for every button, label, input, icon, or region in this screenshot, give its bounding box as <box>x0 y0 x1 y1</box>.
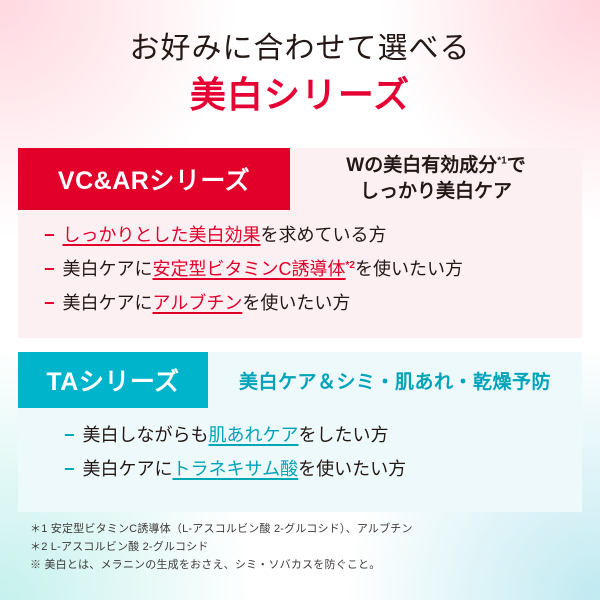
list-item: − 美白ケアに安定型ビタミンC誘導体*2を使いたい方 <box>44 256 564 284</box>
bullet-pre: 美白ケアに <box>83 459 173 479</box>
list-item: − 美白しながらも肌あれケアをしたい方 <box>64 422 564 450</box>
bullet-highlight: 安定型ビタミンC誘導体 <box>153 259 346 279</box>
bullet-dash: − <box>64 456 75 484</box>
promo-graphic: お好みに合わせて選べる 美白シリーズ VC&ARシリーズ Wの美白有効成分*1で… <box>0 0 600 600</box>
section-vc-ar-bullets: − しっかりとした美白効果を求めている方 − 美白ケアに安定型ビタミンC誘導体*… <box>44 222 564 324</box>
bullet-dash: − <box>64 422 75 450</box>
bullet-highlight: 肌あれケア <box>209 425 299 445</box>
bullet-footnote-marker-2: *2 <box>346 260 355 271</box>
section-ta-bullets: − 美白しながらも肌あれケアをしたい方 − 美白ケアにトラネキサム酸を使いたい方 <box>64 422 564 490</box>
section-vc-ar: VC&ARシリーズ Wの美白有効成分*1で しっかり美白ケア − しっかりとした… <box>18 148 582 338</box>
bullet-post: を求めている方 <box>261 225 387 245</box>
section-ta-header: TAシリーズ 美白ケア＆シミ・肌あれ・乾燥予防 <box>18 352 582 408</box>
section-vc-ar-headline: Wの美白有効成分*1で しっかり美白ケア <box>290 148 582 210</box>
page-title: お好みに合わせて選べる 美白シリーズ <box>0 30 600 118</box>
bullet-pre: 美白しながらも <box>83 425 209 445</box>
section-ta-tag: TAシリーズ <box>18 352 208 408</box>
bullet-post: を使いたい方 <box>355 259 463 279</box>
bullet-pre: 美白ケアに <box>63 259 153 279</box>
bullet-highlight: トラネキサム酸 <box>173 459 299 479</box>
headline-line2: しっかり美白ケア <box>360 181 512 202</box>
list-item: − 美白ケアにトラネキサム酸を使いたい方 <box>64 456 564 484</box>
bullet-pre: 美白ケアに <box>63 293 153 313</box>
bullet-post: をしたい方 <box>299 425 389 445</box>
section-ta: TAシリーズ 美白ケア＆シミ・肌あれ・乾燥予防 − 美白しながらも肌あれケアをし… <box>18 352 582 512</box>
list-item: − 美白ケアにアルブチンを使いたい方 <box>44 290 564 318</box>
headline-part1: Wの美白有効成分 <box>346 155 497 176</box>
bullet-post: を使いたい方 <box>298 459 406 479</box>
section-ta-headline: 美白ケア＆シミ・肌あれ・乾燥予防 <box>208 352 582 408</box>
bullet-highlight: しっかりとした美白効果 <box>63 225 261 245</box>
headline-footnote-marker-1: *1 <box>497 156 506 167</box>
bullet-dash: − <box>44 222 55 250</box>
bullet-dash: − <box>44 290 55 318</box>
list-item: − しっかりとした美白効果を求めている方 <box>44 222 564 250</box>
footnote-2: ＊2 L-アスコルビン酸 2-グルコシド <box>30 538 578 556</box>
title-line-1: お好みに合わせて選べる <box>0 30 600 68</box>
footnotes: ＊1 安定型ビタミンC誘導体（L-アスコルビン酸 2-グルコシド）、アルブチン … <box>30 520 578 574</box>
footnote-1: ＊1 安定型ビタミンC誘導体（L-アスコルビン酸 2-グルコシド）、アルブチン <box>30 520 578 538</box>
content-area: お好みに合わせて選べる 美白シリーズ VC&ARシリーズ Wの美白有効成分*1で… <box>0 0 600 600</box>
title-line-2: 美白シリーズ <box>0 72 600 119</box>
section-vc-ar-header: VC&ARシリーズ Wの美白有効成分*1で しっかり美白ケア <box>18 148 582 210</box>
footnote-3: ※ 美白とは、メラニンの生成をおさえ、シミ・ソバカスを防ぐこと。 <box>30 556 578 574</box>
section-vc-ar-tag: VC&ARシリーズ <box>18 148 290 210</box>
bullet-dash: − <box>44 256 55 284</box>
headline-part2: で <box>507 155 526 176</box>
bullet-post: を使いたい方 <box>242 293 350 313</box>
bullet-highlight: アルブチン <box>153 293 243 313</box>
